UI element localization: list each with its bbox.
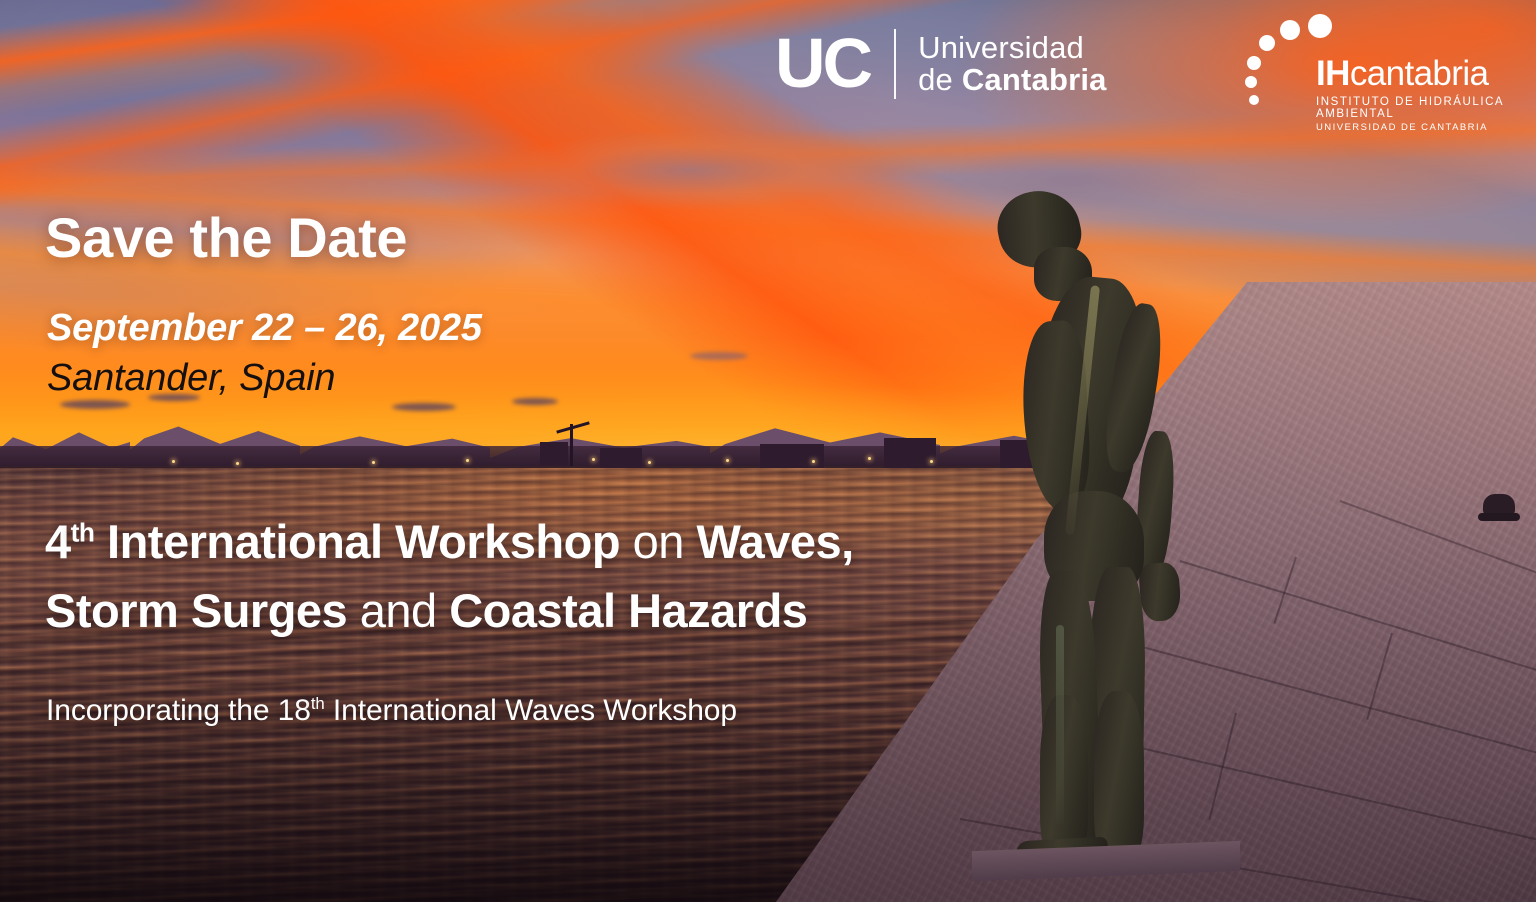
save-the-date-heading: Save the Date	[45, 205, 407, 270]
workshop-title: 4th International Workshop on Waves, Sto…	[45, 508, 854, 645]
ih-name: IHcantabria	[1316, 56, 1528, 91]
ih-initials: IH	[1316, 54, 1350, 93]
event-location: Santander, Spain	[47, 357, 335, 400]
title-ordinal-suffix: th	[71, 517, 95, 547]
ih-cantabria-logo: IHcantabria INSTITUTO DE HIDRÁULICA AMBI…	[1240, 12, 1528, 120]
uc-wordmark: Universidad de Cantabria	[918, 32, 1107, 96]
incorporating-ordinal-suffix: th	[311, 694, 325, 713]
title-part-waves: Waves,	[696, 515, 853, 568]
title-part-international-workshop: International Workshop	[94, 515, 620, 568]
event-dates: September 22 – 26, 2025	[47, 307, 482, 350]
ih-cantabria-word: cantabria	[1350, 54, 1489, 93]
save-the-date-poster: UC Universidad de Cantabria IHcantabria …	[0, 0, 1536, 902]
incorporating-line: Incorporating the 18th International Wav…	[46, 694, 737, 728]
workshop-title-line2: Storm Surges and Coastal Hazards	[45, 577, 854, 646]
title-part-coastal-hazards: Coastal Hazards	[449, 584, 807, 637]
uc-wordmark-line2: de Cantabria	[918, 64, 1107, 96]
title-part-storm-surges: Storm Surges	[45, 584, 347, 637]
uc-wordmark-cantabria: Cantabria	[962, 62, 1107, 97]
uc-monogram: UC	[775, 30, 870, 97]
title-part-on: on	[620, 515, 696, 568]
incorporating-rest: International Waves Workshop	[325, 694, 737, 727]
workshop-title-line1: 4th International Workshop on Waves,	[45, 508, 854, 577]
ih-wordmark: IHcantabria INSTITUTO DE HIDRÁULICA AMBI…	[1316, 56, 1528, 133]
logo-divider	[894, 29, 896, 99]
uc-wordmark-de: de	[918, 62, 962, 97]
incorporating-prefix: Incorporating the 18	[46, 694, 311, 727]
ih-subtitle-institute: INSTITUTO DE HIDRÁULICA AMBIENTAL	[1316, 96, 1528, 120]
mooring-bollard	[1483, 494, 1515, 516]
ih-subtitle-university: UNIVERSIDAD DE CANTABRIA	[1316, 122, 1528, 133]
uc-wordmark-line1: Universidad	[918, 32, 1107, 64]
universidad-de-cantabria-logo: UC Universidad de Cantabria	[775, 22, 1107, 106]
title-part-and: and	[347, 584, 449, 637]
raqueros-bronze-statue	[960, 185, 1220, 885]
title-ordinal-number: 4	[45, 515, 71, 568]
